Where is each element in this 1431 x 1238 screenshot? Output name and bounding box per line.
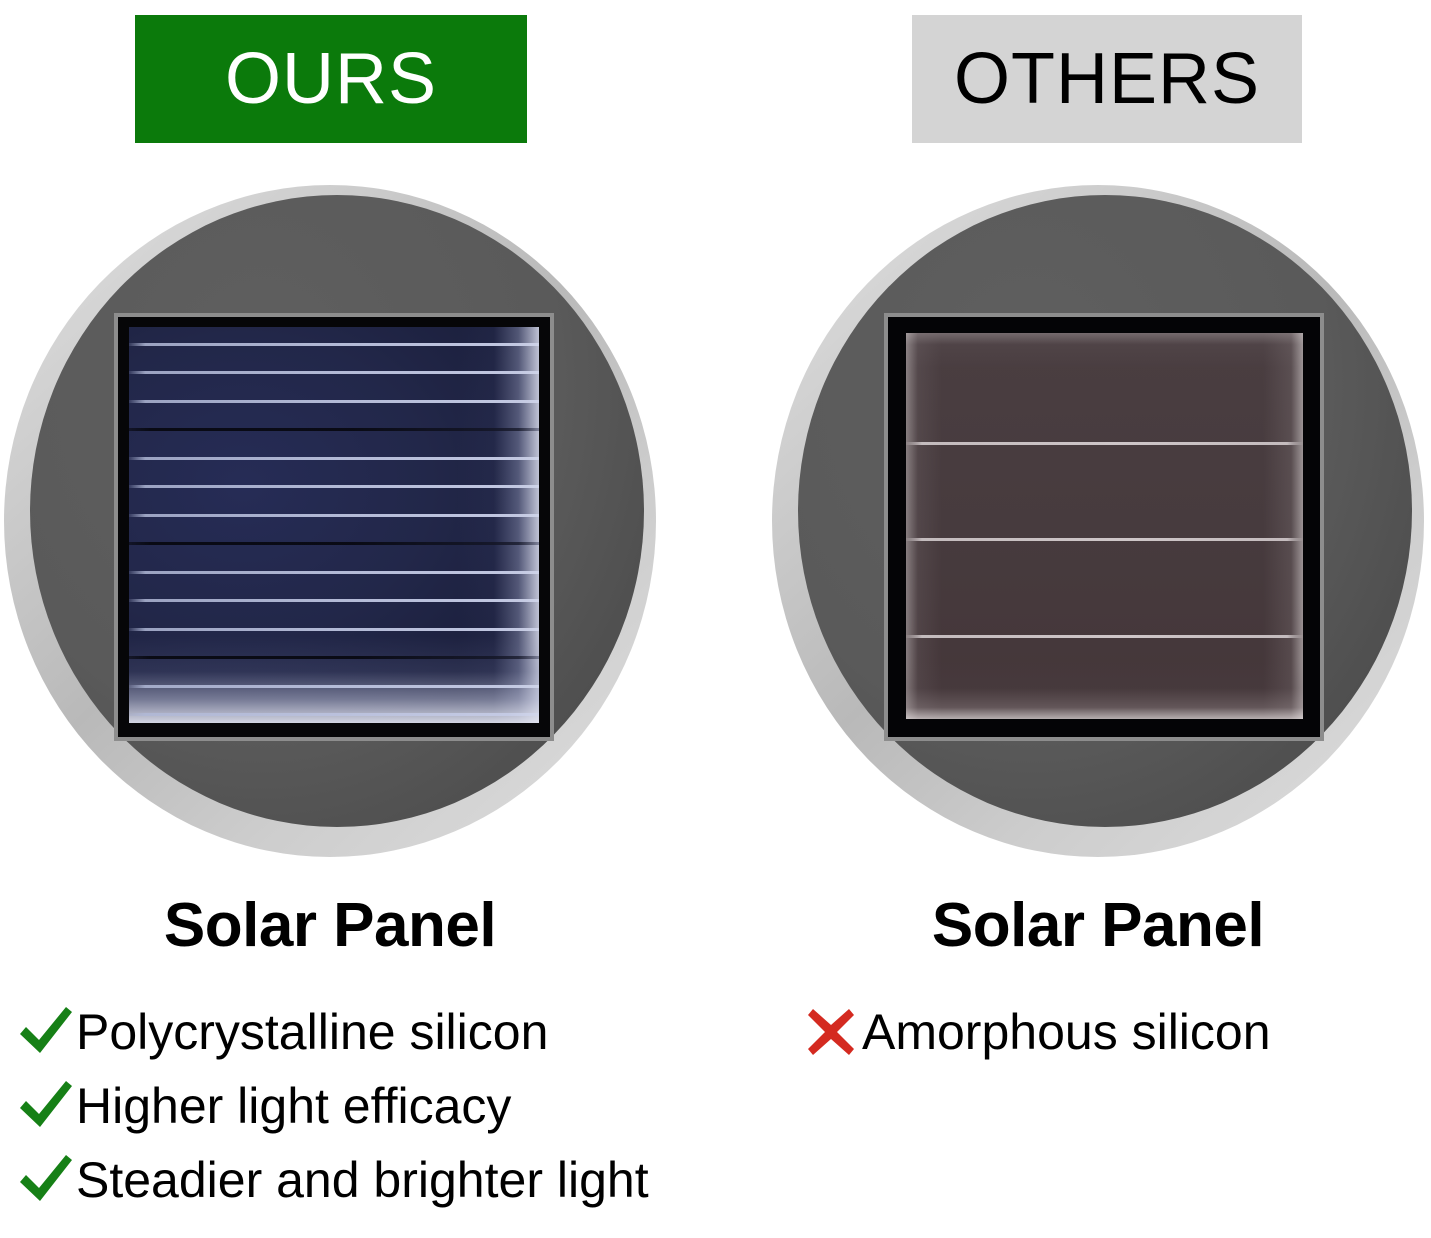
cell-strip-line	[906, 635, 1303, 638]
feature-list-ours: Polycrystalline silicon Higher light eff…	[14, 1000, 649, 1222]
busbar-line	[129, 599, 539, 602]
busbar-line	[129, 457, 539, 460]
busbar-line	[129, 685, 539, 688]
feature-label: Amorphous silicon	[862, 1007, 1271, 1057]
feature-label: Steadier and brighter light	[76, 1155, 649, 1205]
busbar-line	[129, 514, 539, 517]
solar-panel-ours	[114, 313, 554, 741]
cell-separator-line	[129, 542, 539, 545]
list-item: Polycrystalline silicon	[14, 1000, 649, 1064]
check-icon	[14, 1153, 76, 1207]
badge-ours: OURS	[135, 15, 527, 143]
check-icon	[14, 1005, 76, 1059]
busbar-line	[129, 343, 539, 346]
cell-strip-line	[906, 538, 1303, 541]
cell-separator-line	[129, 656, 539, 659]
list-item: Steadier and brighter light	[14, 1148, 649, 1212]
list-item: Amorphous silicon	[800, 1000, 1271, 1064]
amorphous-cell	[906, 333, 1303, 719]
busbar-line	[129, 485, 539, 488]
busbar-line	[129, 371, 539, 374]
solar-panel-others	[884, 313, 1324, 741]
busbar-line	[129, 571, 539, 574]
feature-label: Higher light efficacy	[76, 1081, 511, 1131]
polycrystalline-cell	[129, 327, 539, 723]
check-icon	[14, 1079, 76, 1133]
busbar-line	[129, 400, 539, 403]
feature-label: Polycrystalline silicon	[76, 1007, 548, 1057]
solar-panel-frame-ours	[118, 317, 550, 737]
panel-title-others: Solar Panel	[772, 895, 1424, 957]
list-item: Higher light efficacy	[14, 1074, 649, 1138]
feature-list-others: Amorphous silicon	[800, 1000, 1271, 1074]
solar-panel-frame-others	[888, 317, 1320, 737]
cell-strip-line	[906, 442, 1303, 445]
busbar-line	[129, 713, 539, 716]
busbar-line	[129, 628, 539, 631]
badge-others: OTHERS	[912, 15, 1302, 143]
cross-icon	[800, 1007, 862, 1057]
cell-separator-line	[129, 428, 539, 431]
panel-title-ours: Solar Panel	[4, 895, 656, 957]
